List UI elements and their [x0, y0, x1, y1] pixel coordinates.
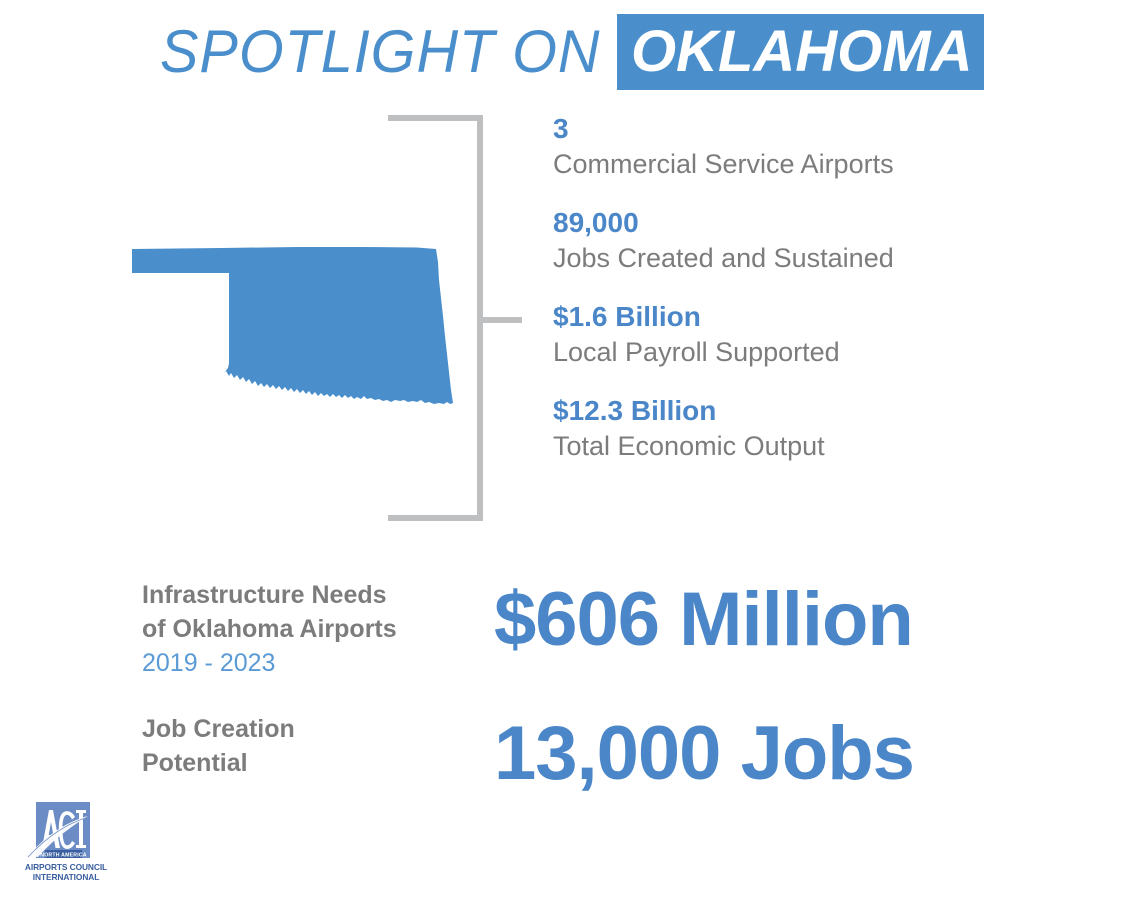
job-creation-caption: Job Creation Potential [142, 712, 494, 780]
stat-value: 89,000 [553, 206, 1073, 240]
page-title-highlight: OKLAHOMA [617, 14, 985, 90]
page-title: SPOTLIGHT ON OKLAHOMA [0, 14, 1125, 90]
stat-value: 3 [553, 112, 1073, 146]
infrastructure-caption-line1: Infrastructure Needs [142, 578, 494, 612]
bracket-icon [380, 110, 530, 535]
stat-item: 89,000 Jobs Created and Sustained [553, 206, 1073, 276]
infrastructure-caption-line2: of Oklahoma Airports [142, 612, 494, 646]
aci-logo-org-line1: AIRPORTS COUNCIL [25, 862, 107, 872]
job-creation-row: Job Creation Potential 13,000 Jobs [142, 712, 914, 796]
stats-list: 3 Commercial Service Airports 89,000 Job… [553, 112, 1073, 464]
stat-label: Commercial Service Airports [553, 146, 1073, 182]
page-title-plain: SPOTLIGHT ON [160, 14, 617, 90]
infrastructure-years: 2019 - 2023 [142, 646, 494, 680]
stat-item: 3 Commercial Service Airports [553, 112, 1073, 182]
infrastructure-figure: $606 Million [494, 578, 913, 662]
stat-label: Local Payroll Supported [553, 334, 1073, 370]
aci-logo-icon: NORTH AMERICA AIRPORTS COUNCIL INTERNATI… [18, 800, 114, 890]
stat-item: $1.6 Billion Local Payroll Supported [553, 300, 1073, 370]
aci-logo-org-line2: INTERNATIONAL [33, 872, 99, 882]
aci-north-america-logo: NORTH AMERICA AIRPORTS COUNCIL INTERNATI… [18, 800, 114, 890]
job-creation-caption-line1: Job Creation [142, 712, 494, 746]
aci-logo-region: NORTH AMERICA [40, 852, 87, 858]
job-creation-caption-line2: Potential [142, 746, 494, 780]
stat-value: $1.6 Billion [553, 300, 1073, 334]
bottom-section: Infrastructure Needs of Oklahoma Airport… [0, 570, 1125, 800]
bracket-connector [380, 110, 530, 535]
stat-item: $12.3 Billion Total Economic Output [553, 394, 1073, 464]
stat-label: Total Economic Output [553, 428, 1073, 464]
infrastructure-caption: Infrastructure Needs of Oklahoma Airport… [142, 578, 494, 680]
job-creation-figure: 13,000 Jobs [494, 712, 914, 796]
stat-label: Jobs Created and Sustained [553, 240, 1073, 276]
infrastructure-needs-row: Infrastructure Needs of Oklahoma Airport… [142, 578, 913, 680]
stat-value: $12.3 Billion [553, 394, 1073, 428]
